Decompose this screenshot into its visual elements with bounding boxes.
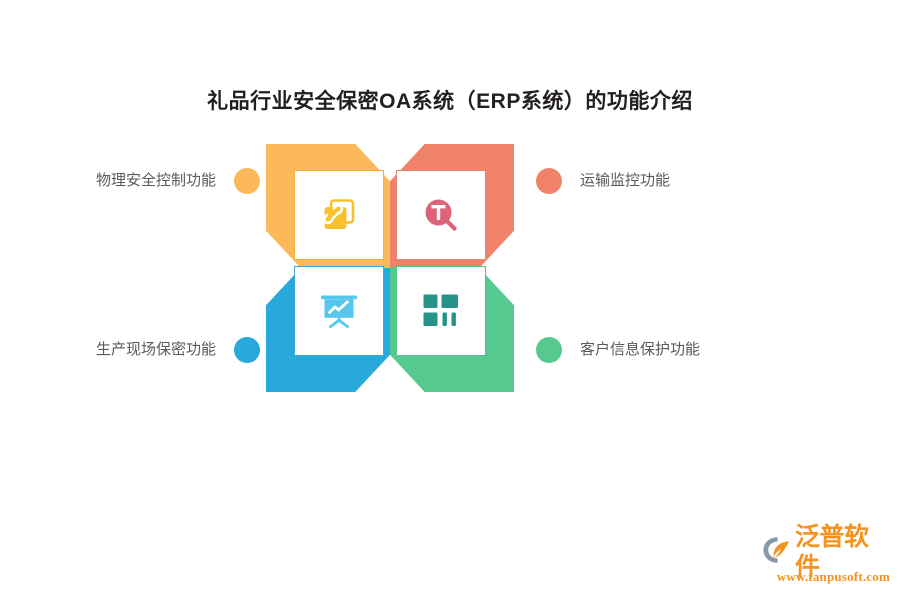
- icon-card-physical-security[interactable]: [294, 170, 384, 260]
- label-text: 运输监控功能: [580, 171, 670, 191]
- icon-card-customer-info-protection[interactable]: [396, 266, 486, 356]
- label-dot-green: [536, 337, 562, 363]
- slide-canvas: 礼品行业安全保密OA系统（ERP系统）的功能介绍: [0, 0, 900, 600]
- dashboard-grid-icon: [421, 292, 461, 330]
- presentation-chart-icon: [317, 290, 361, 332]
- label-dot-salmon: [536, 168, 562, 194]
- label-transport-monitoring: 运输监控功能: [536, 168, 856, 194]
- label-physical-security: 物理安全控制功能: [20, 168, 260, 194]
- label-text: 客户信息保护功能: [580, 340, 700, 360]
- page-title: 礼品行业安全保密OA系统（ERP系统）的功能介绍: [0, 88, 900, 116]
- label-production-confidentiality: 生产现场保密功能: [20, 337, 260, 363]
- watermark-url: www.fanpusoft.com: [762, 569, 890, 585]
- label-text: 物理安全控制功能: [96, 171, 216, 191]
- watermark-brand-row: 泛普软件: [762, 536, 890, 568]
- watermark-logo: 泛普软件 www.fanpusoft.com: [762, 536, 890, 588]
- fanpu-logo-mark-icon: [762, 535, 792, 570]
- four-quadrant-diagram: [250, 130, 530, 410]
- label-dot-blue: [234, 337, 260, 363]
- label-customer-info-protection: 客户信息保护功能: [536, 337, 856, 363]
- label-text: 生产现场保密功能: [96, 340, 216, 360]
- text-search-icon: [420, 194, 462, 236]
- label-dot-orange: [234, 168, 260, 194]
- icon-card-production-confidentiality[interactable]: [294, 266, 384, 356]
- icon-card-transport-monitoring[interactable]: [396, 170, 486, 260]
- copy-link-icon: [318, 194, 360, 236]
